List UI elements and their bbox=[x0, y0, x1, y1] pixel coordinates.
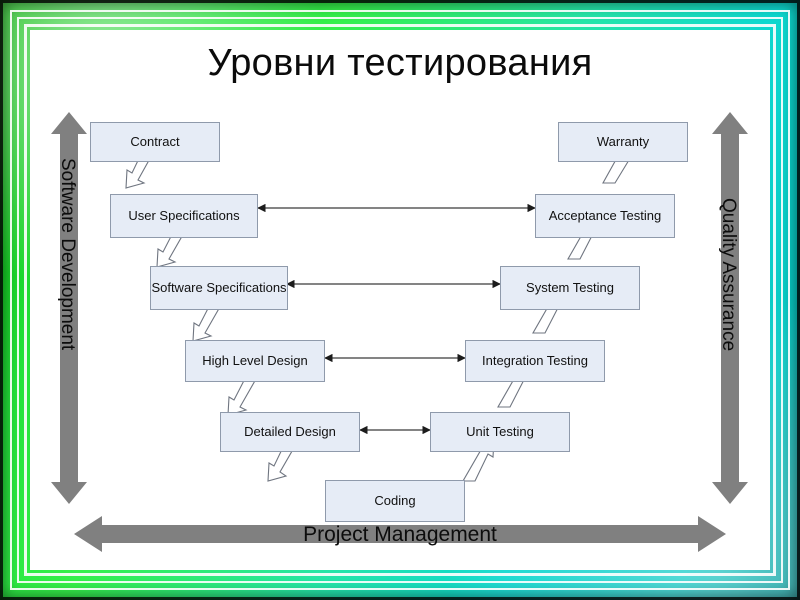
cross-links bbox=[258, 208, 535, 430]
node-label: Warranty bbox=[597, 134, 649, 150]
node-label: Integration Testing bbox=[482, 353, 588, 369]
node-contract[interactable]: Contract bbox=[90, 122, 220, 162]
slide-root: Уровни тестирования bbox=[0, 0, 800, 600]
node-detailed-design[interactable]: Detailed Design bbox=[220, 412, 360, 452]
node-label: High Level Design bbox=[202, 353, 308, 369]
node-integration-testing[interactable]: Integration Testing bbox=[465, 340, 605, 382]
node-label: Contract bbox=[130, 134, 179, 150]
node-software-specifications[interactable]: Software Specifications bbox=[150, 266, 288, 310]
node-acceptance-testing[interactable]: Acceptance Testing bbox=[535, 194, 675, 238]
node-label: System Testing bbox=[526, 280, 614, 296]
band-label-software-development: Software Development bbox=[56, 158, 78, 350]
node-user-specifications[interactable]: User Specifications bbox=[110, 194, 258, 238]
node-label: User Specifications bbox=[128, 208, 239, 224]
slide-canvas: Уровни тестирования bbox=[30, 30, 770, 570]
node-label: Detailed Design bbox=[244, 424, 336, 440]
band-label-quality-assurance: Quality Assurance bbox=[717, 198, 739, 351]
node-label: Software Specifications bbox=[151, 280, 286, 296]
node-system-testing[interactable]: System Testing bbox=[500, 266, 640, 310]
node-label: Acceptance Testing bbox=[549, 208, 662, 224]
node-unit-testing[interactable]: Unit Testing bbox=[430, 412, 570, 452]
node-high-level-design[interactable]: High Level Design bbox=[185, 340, 325, 382]
band-label-project-management: Project Management bbox=[30, 523, 770, 547]
node-label: Coding bbox=[374, 493, 415, 509]
node-warranty[interactable]: Warranty bbox=[558, 122, 688, 162]
node-label: Unit Testing bbox=[466, 424, 534, 440]
node-coding[interactable]: Coding bbox=[325, 480, 465, 522]
